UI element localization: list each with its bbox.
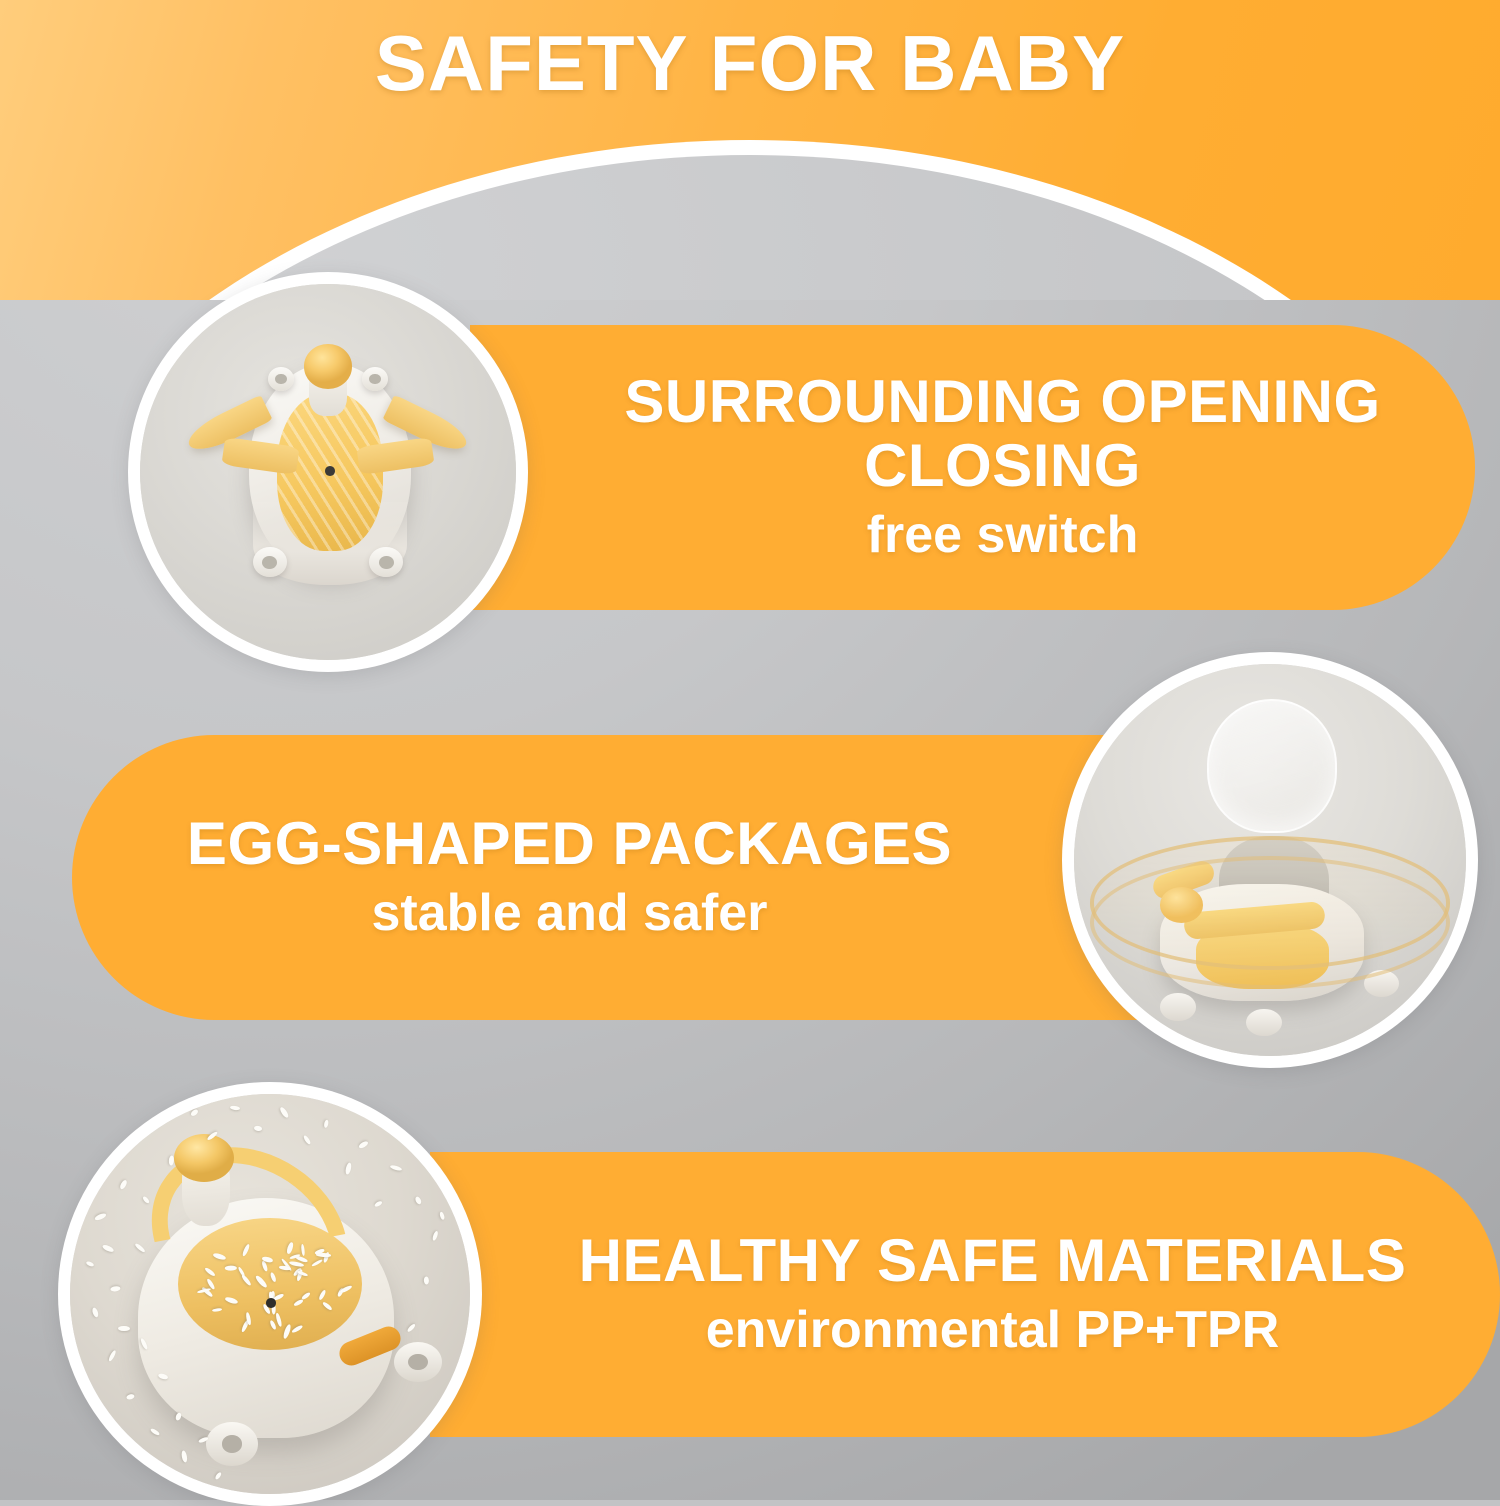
feature-title: HEALTHY SAFE MATERIALS bbox=[579, 1229, 1407, 1293]
product-photo-top-view bbox=[140, 284, 516, 660]
feature-title: SURROUNDING OPENING CLOSING bbox=[530, 370, 1475, 497]
product-photo-rice-grains bbox=[70, 1094, 470, 1494]
feature-photo-surrounding-opening-closing bbox=[128, 272, 528, 672]
feature-title: EGG-SHAPED PACKAGES bbox=[187, 812, 952, 876]
photo-frame bbox=[1074, 664, 1466, 1056]
feature-photo-healthy-safe-materials bbox=[58, 1082, 482, 1506]
feature-banner-egg-shaped-packages: EGG-SHAPED PACKAGES stable and safer bbox=[72, 735, 1187, 1020]
page-title: SAFETY FOR BABY bbox=[0, 24, 1500, 102]
feature-banner-healthy-safe-materials: HEALTHY SAFE MATERIALS environmental PP+… bbox=[430, 1152, 1500, 1437]
photo-frame bbox=[140, 284, 516, 660]
rice-grains bbox=[70, 1094, 470, 1494]
feature-subtitle: stable and safer bbox=[372, 883, 768, 943]
photo-frame bbox=[70, 1094, 470, 1494]
feature-photo-egg-shaped-packages bbox=[1062, 652, 1478, 1068]
feature-subtitle: environmental PP+TPR bbox=[706, 1300, 1280, 1360]
product-photo-egg-shell bbox=[1074, 664, 1466, 1056]
feature-subtitle: free switch bbox=[867, 505, 1139, 565]
header-arc-gray-dome bbox=[0, 155, 1500, 300]
feature-banner-surrounding-opening-closing: SURROUNDING OPENING CLOSING free switch bbox=[470, 325, 1475, 610]
